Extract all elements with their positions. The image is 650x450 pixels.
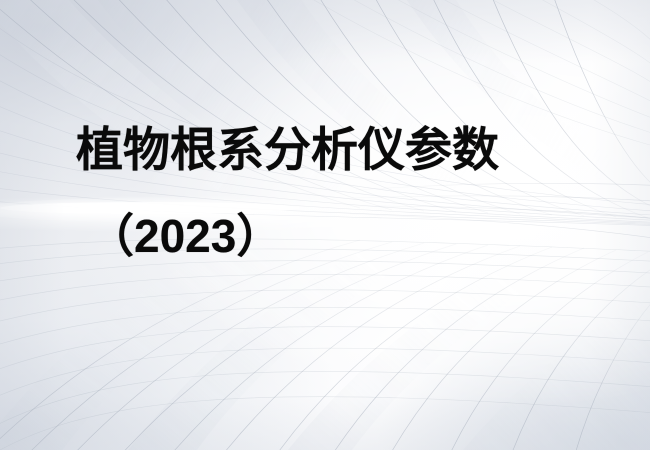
slide-title-line-1: 植物根系分析仪参数 [76, 126, 650, 173]
title-slide: 植物根系分析仪参数 （2023） [0, 0, 650, 450]
slide-title-line-2: （2023） [88, 213, 650, 259]
slide-title-block: 植物根系分析仪参数 （2023） [0, 126, 650, 259]
